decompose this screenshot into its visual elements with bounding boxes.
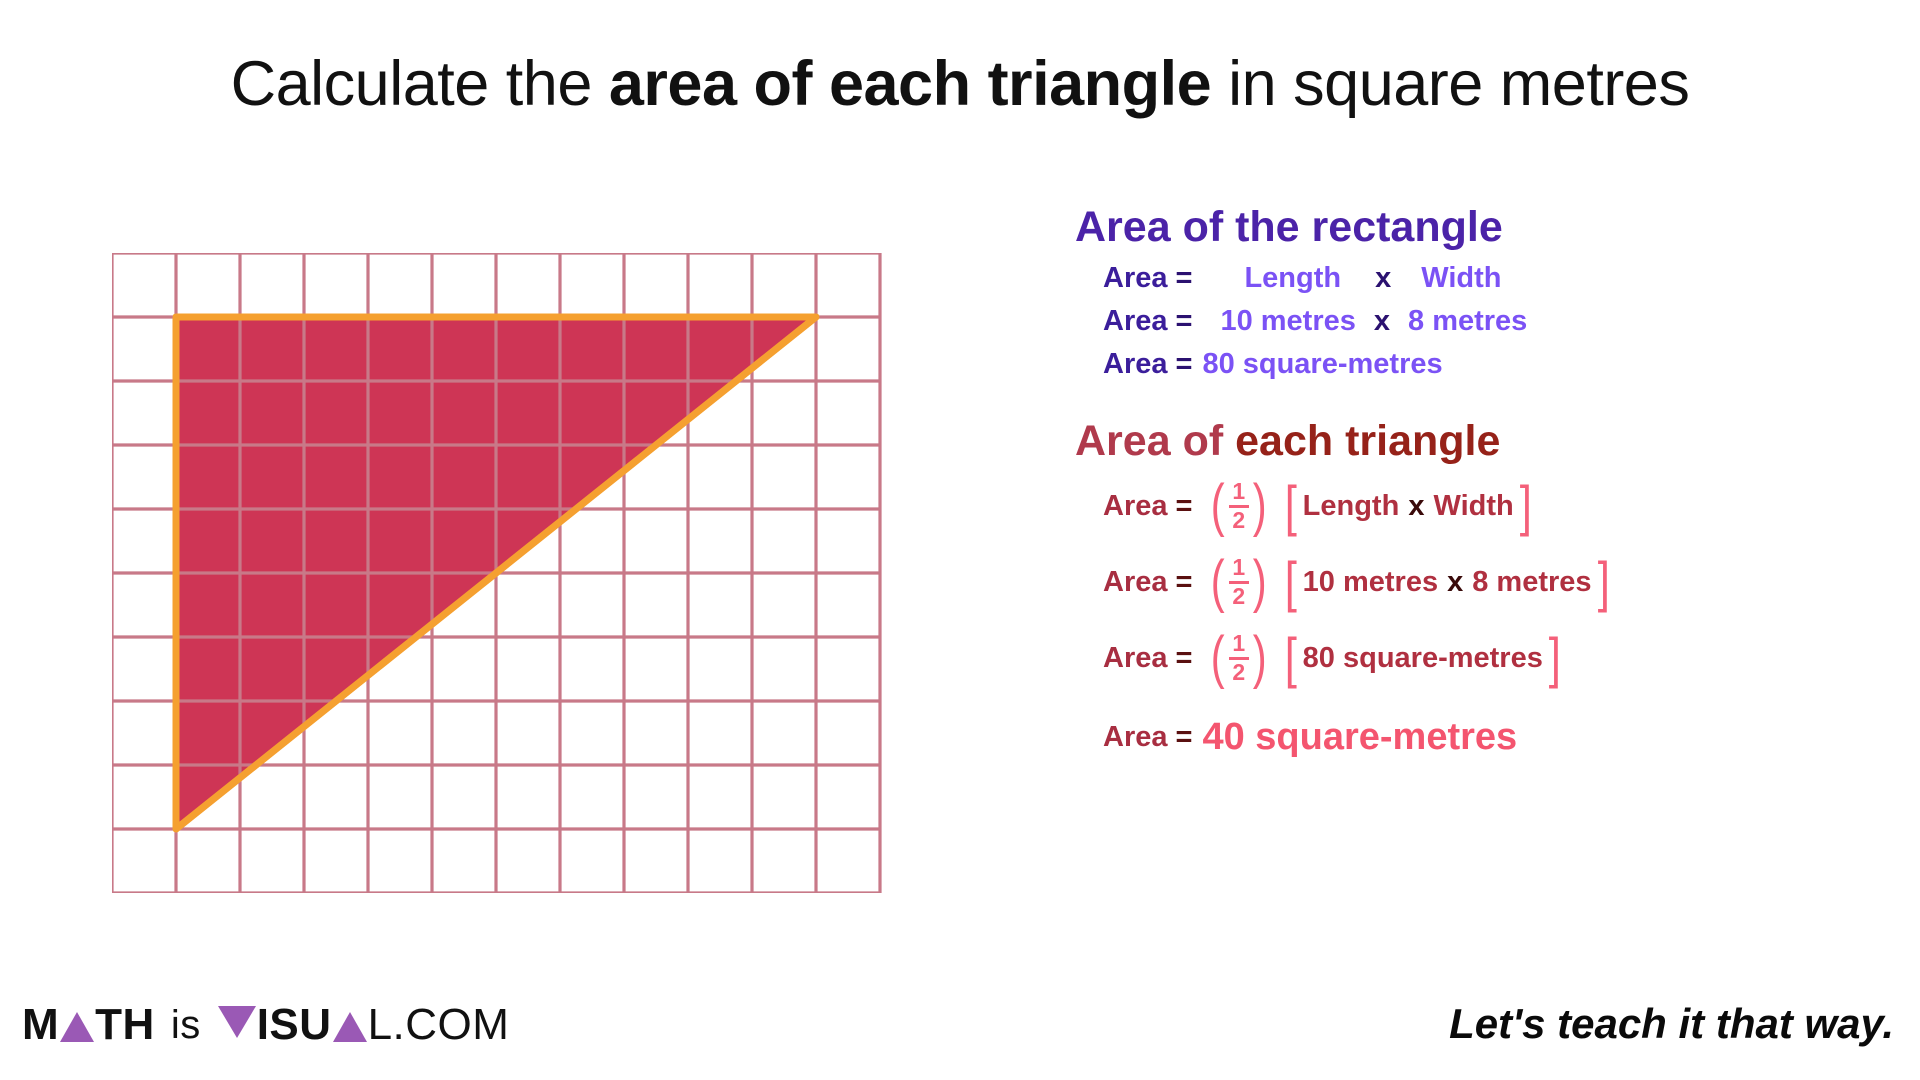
row-left-value: Length [1244, 264, 1341, 293]
fraction-stack: 1 2 [1229, 480, 1249, 532]
triangle-formula-row-2: Area = ( 1 2 ) [ 10 metres x 8 metres ] [1103, 556, 1895, 608]
row-label: Area [1103, 264, 1168, 293]
paren-right: ) [1252, 483, 1266, 529]
multiply-sign: x [1408, 492, 1424, 521]
triangle-heading-part-1: Area of [1075, 417, 1235, 465]
bracket-left: [ [1285, 486, 1297, 526]
logo-letter-m: M [22, 1000, 59, 1050]
rectangle-formula-row-1: Area = Length x Width [1103, 264, 1895, 293]
fraction-stack: 1 2 [1229, 632, 1249, 684]
row-left-value: Length [1303, 492, 1400, 521]
row-label: Area [1103, 492, 1168, 521]
paren-left: ( [1211, 559, 1225, 605]
fraction-denominator: 2 [1232, 509, 1245, 532]
tagline: Let's teach it that way. [1449, 1000, 1894, 1048]
row-result-value: 80 square-metres [1202, 350, 1442, 379]
rectangle-formula-row-3: Area = 80 square-metres [1103, 350, 1895, 379]
fraction-numerator: 1 [1232, 632, 1245, 655]
logo-letters-lcom: L.COM [368, 1000, 510, 1050]
multiply-sign: x [1447, 568, 1463, 597]
title-emphasis: area of each triangle [609, 49, 1211, 119]
page-title: Calculate the area of each triangle in s… [0, 48, 1920, 120]
row-right-value: Width [1433, 492, 1513, 521]
one-half-fraction: ( 1 2 ) [1208, 632, 1269, 684]
row-label: Area [1103, 644, 1168, 673]
paren-left: ( [1211, 635, 1225, 681]
equals-sign: = [1176, 350, 1193, 379]
row-left-value: 10 metres [1303, 568, 1438, 597]
equals-sign: = [1176, 264, 1193, 293]
bracket-left: [ [1285, 562, 1297, 602]
row-label: Area [1103, 307, 1168, 336]
rectangle-section: Area of the rectangle Area = Length x Wi… [1075, 205, 1895, 379]
title-part-2: in square metres [1211, 49, 1689, 119]
multiply-sign: x [1375, 264, 1391, 293]
final-answer-value: 40 square-metres [1202, 718, 1517, 756]
row-label: Area [1103, 350, 1168, 379]
title-part-1: Calculate the [231, 49, 609, 119]
figure-panel [112, 253, 884, 893]
triangle-formula-row-3: Area = ( 1 2 ) [ 80 square-metres ] [1103, 632, 1895, 684]
fraction-stack: 1 2 [1229, 556, 1249, 608]
fraction-denominator: 2 [1232, 661, 1245, 684]
one-half-fraction: ( 1 2 ) [1208, 556, 1269, 608]
work-panel: Area of the rectangle Area = Length x Wi… [1075, 205, 1895, 756]
equals-sign: = [1176, 568, 1193, 597]
triangle-formula-row-1: Area = ( 1 2 ) [ Length x Width ] [1103, 480, 1895, 532]
triangle-heading: Area of each triangle [1075, 419, 1895, 464]
math-is-visual-logo[interactable]: M TH is ISU L.COM [22, 1000, 509, 1050]
triangle-up-icon [60, 1012, 94, 1042]
bracket-right: ] [1597, 562, 1609, 602]
row-label: Area [1103, 723, 1168, 752]
triangle-down-icon [218, 1006, 256, 1038]
equals-sign: = [1176, 644, 1193, 673]
equals-sign: = [1176, 307, 1193, 336]
row-label: Area [1103, 568, 1168, 597]
equals-sign: = [1176, 492, 1193, 521]
row-left-value: 10 metres [1220, 307, 1355, 336]
row-right-value: Width [1421, 264, 1501, 293]
row-right-value: 8 metres [1408, 307, 1527, 336]
logo-letters-th: TH [95, 1000, 155, 1050]
triangle-final-answer-row: Area = 40 square-metres [1103, 718, 1895, 756]
bracket-left: [ [1285, 638, 1297, 678]
row-right-value: 8 metres [1472, 568, 1591, 597]
bracket-right: ] [1519, 486, 1531, 526]
paren-right: ) [1252, 559, 1266, 605]
row-result-value: 80 square-metres [1303, 644, 1543, 673]
fraction-denominator: 2 [1232, 585, 1245, 608]
rectangle-heading: Area of the rectangle [1075, 205, 1895, 250]
fraction-numerator: 1 [1232, 556, 1245, 579]
triangle-section: Area of each triangle Area = ( 1 2 ) [ L… [1075, 419, 1895, 756]
bracket-right: ] [1549, 638, 1561, 678]
paren-left: ( [1211, 483, 1225, 529]
triangle-heading-part-2: each triangle [1235, 417, 1500, 465]
fraction-numerator: 1 [1232, 480, 1245, 503]
logo-letters-isu: ISU [257, 1000, 332, 1050]
grid-with-shaded-right-triangle [112, 253, 884, 893]
logo-word-is: is [171, 1003, 201, 1048]
triangle-up-icon [333, 1012, 367, 1042]
one-half-fraction: ( 1 2 ) [1208, 480, 1269, 532]
equals-sign: = [1176, 723, 1193, 752]
rectangle-formula-row-2: Area = 10 metres x 8 metres [1103, 307, 1895, 336]
paren-right: ) [1252, 635, 1266, 681]
multiply-sign: x [1374, 307, 1390, 336]
